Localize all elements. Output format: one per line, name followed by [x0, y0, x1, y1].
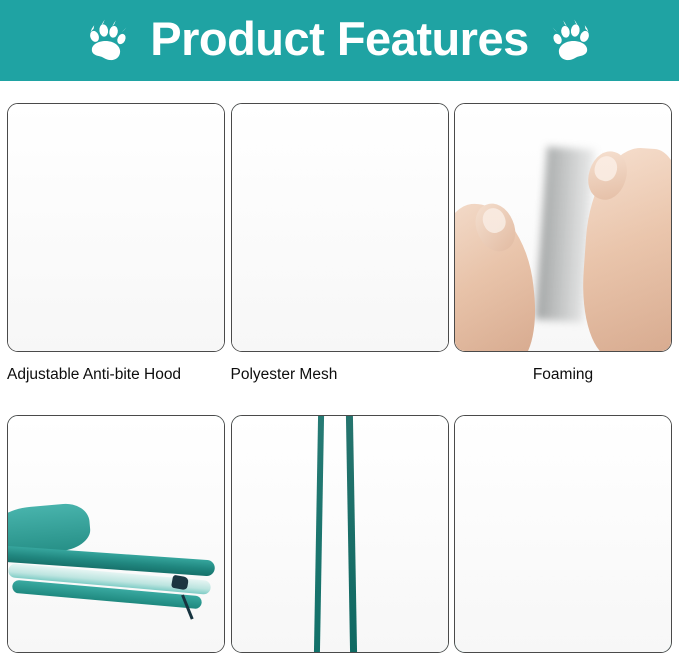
feature-image-hood	[7, 103, 225, 352]
feature-grid: Adjustable Anti-bite Hood Polyester Mesh	[0, 81, 679, 653]
feature-caption-hood: Adjustable Anti-bite Hood	[7, 366, 225, 385]
feature-cell-texture	[454, 415, 672, 667]
feature-row-bottom	[0, 415, 679, 667]
feature-cell-foaming: Foaming	[454, 103, 672, 385]
feature-caption-mesh: Polyester Mesh	[231, 366, 449, 385]
product-features-infographic: Product Features	[0, 0, 679, 653]
paw-print-icon-right	[551, 19, 593, 63]
feature-cell-seam	[231, 415, 449, 667]
feature-caption-foaming: Foaming	[454, 366, 672, 385]
feature-cell-hood: Adjustable Anti-bite Hood	[7, 103, 225, 385]
feature-image-foaming	[454, 103, 672, 352]
page-title: Product Features	[146, 15, 533, 66]
paw-print-icon-left	[86, 19, 128, 63]
feature-image-seam	[231, 415, 449, 653]
feature-cell-zipper	[7, 415, 225, 667]
feature-image-mesh	[231, 103, 449, 352]
feature-cell-mesh: Polyester Mesh	[231, 103, 449, 385]
feature-image-zipper	[7, 415, 225, 653]
feature-image-texture	[454, 415, 672, 653]
header-banner: Product Features	[0, 0, 679, 81]
feature-row-top: Adjustable Anti-bite Hood Polyester Mesh	[0, 103, 679, 385]
